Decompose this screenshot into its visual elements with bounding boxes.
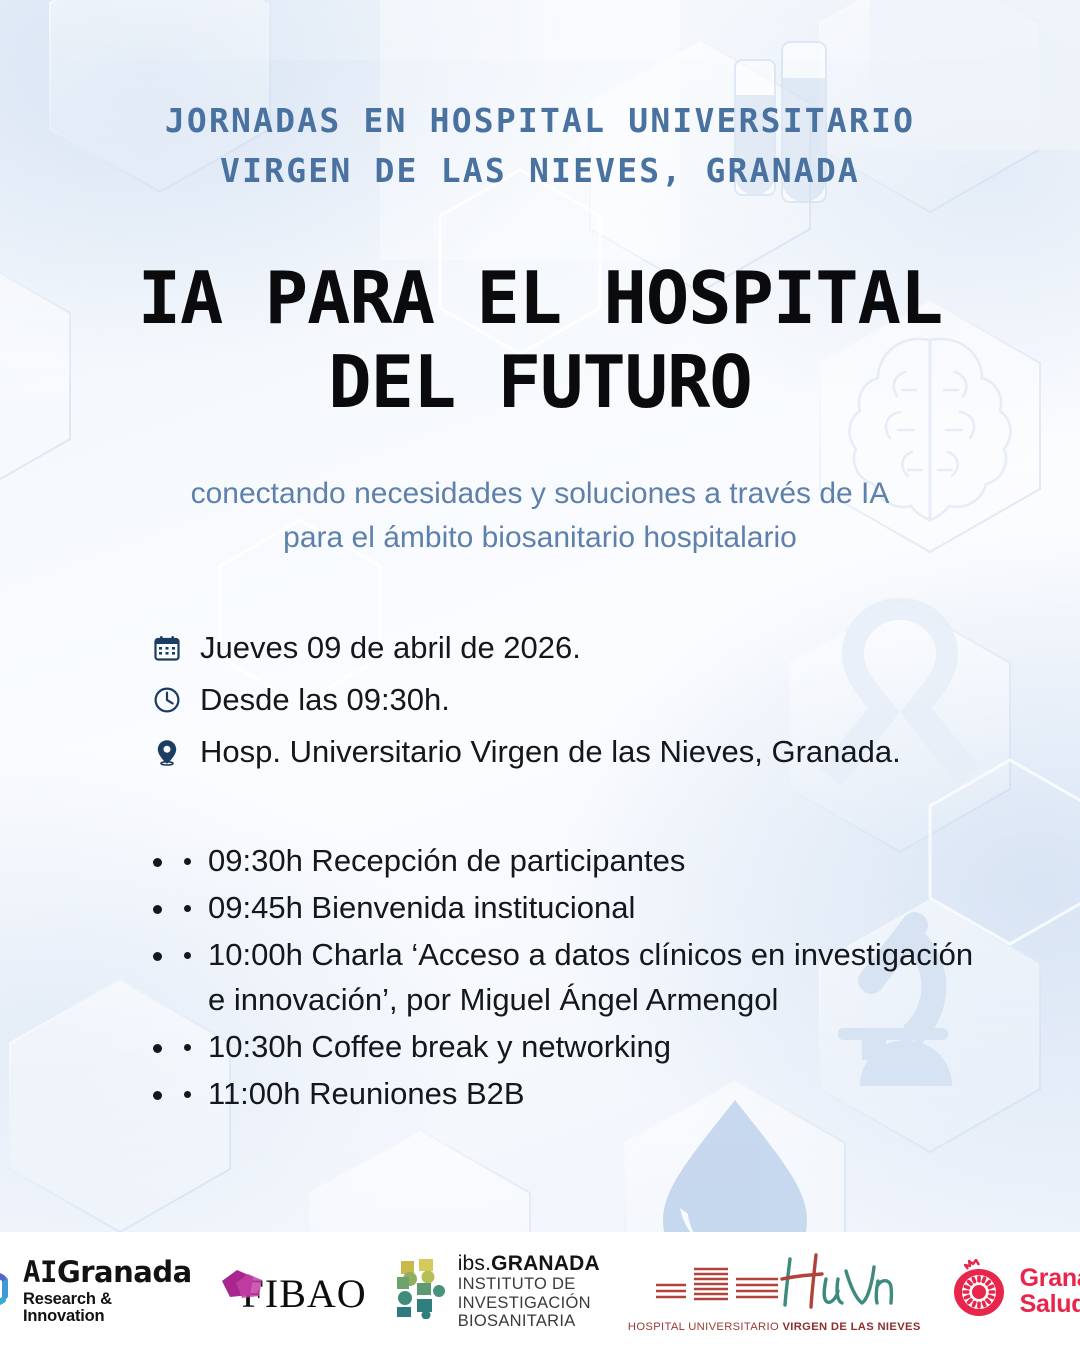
event-kicker: JORNADAS EN HOSPITAL UNIVERSITARIO VIRGE… [0,96,1080,196]
bullet-icon [184,952,191,959]
list-item: 10:30h Coffee break y networking [178,1024,998,1069]
logo-ibs-main: GRANADA [491,1252,600,1275]
logo-ibs-line2: INSTITUTO DE [458,1275,600,1293]
detail-time: Desde las 09:30h. [152,677,901,723]
logo-granada-salud: Granada Salud [949,1259,1080,1324]
detail-location-text: Hosp. Universitario Virgen de las Nieves… [200,735,901,769]
bullet-icon [184,1044,191,1051]
logo-fibao: FIBAO [220,1268,367,1314]
page-title: IA PARA EL HOSPITAL DEL FUTURO [0,256,1080,424]
title-line-1: IA PARA EL HOSPITAL [138,256,943,340]
fibao-pentagon-icon [220,1268,266,1313]
huvn-mark-icon [650,1249,898,1318]
logo-huvn-caption-light: HOSPITAL UNIVERSITARIO [628,1321,779,1333]
agenda-text: 09:30h Recepción de participantes [208,843,685,878]
clock-icon [152,685,182,715]
agenda-text: 10:00h Charla ‘Acceso a datos clínicos e… [208,937,973,972]
detail-date: Jueves 09 de abril de 2026. [152,625,901,671]
sponsor-logos: AIGranada Research & Innovation FIBAO [0,1232,1080,1350]
location-pin-icon [152,737,182,767]
bullet-icon [184,1091,191,1098]
calendar-icon [152,633,182,663]
list-item: 09:30h Recepción de participantes [178,838,998,883]
list-item: 10:00h Charla ‘Acceso a datos clínicos e… [178,932,998,1022]
logo-granada-salud-line1: Granada [1020,1265,1080,1291]
event-subtitle: conectando necesidades y soluciones a tr… [0,472,1080,560]
list-item: 09:45h Bienvenida institucional [178,885,998,930]
logo-ibs-prefix: ibs. [458,1252,491,1275]
pomegranate-icon [949,1259,1009,1324]
poster-root: JORNADAS EN HOSPITAL UNIVERSITARIO VIRGE… [0,0,1080,1350]
title-line-2: DEL FUTURO [0,340,1080,424]
kicker-line-1: JORNADAS EN HOSPITAL UNIVERSITARIO [0,96,1080,146]
logo-ibs-line4: BIOSANITARIA [458,1312,600,1330]
subtitle-line-2: para el ámbito biosanitario hospitalario [0,516,1080,560]
logo-ai-granada-tagline: Research & Innovation [23,1291,192,1324]
logo-ai-granada: AIGranada Research & Innovation [0,1258,192,1324]
logo-ibs-line3: INVESTIGACIÓN [458,1294,600,1312]
detail-time-text: Desde las 09:30h. [200,683,450,717]
agenda-text: 10:30h Coffee break y networking [208,1029,671,1064]
subtitle-line-1: conectando necesidades y soluciones a tr… [0,472,1080,516]
logo-ai-granada-ai: AI [23,1255,57,1289]
agenda-list: 09:30h Recepción de participantes 09:45h… [178,838,998,1118]
detail-date-text: Jueves 09 de abril de 2026. [200,631,581,665]
agenda-text-continued: e innovación’, por Miguel Ángel Armengol [208,977,998,1022]
logo-huvn: HOSPITAL UNIVERSITARIO VIRGEN DE LAS NIE… [628,1249,921,1333]
logo-granada-salud-line2: Salud [1020,1291,1080,1317]
event-details: Jueves 09 de abril de 2026. Desde las 09… [152,625,901,775]
ai-granada-mark-icon [0,1263,13,1320]
agenda-text: 09:45h Bienvenida institucional [208,890,635,925]
detail-location: Hosp. Universitario Virgen de las Nieves… [152,729,901,775]
logo-huvn-caption-bold: VIRGEN DE LAS NIEVES [782,1321,920,1333]
kicker-line-2: VIRGEN DE LAS NIEVES, GRANADA [0,146,1080,196]
list-item: 11:00h Reuniones B2B [178,1071,998,1116]
agenda-text: 11:00h Reuniones B2B [208,1076,525,1111]
bullet-icon [184,905,191,912]
logo-ibs-granada: ibs.GRANADA INSTITUTO DE INVESTIGACIÓN B… [395,1252,600,1331]
logo-ai-granada-granada: Granada [57,1255,192,1289]
bullet-icon [184,858,191,865]
ibs-granada-mark-icon [395,1257,449,1324]
